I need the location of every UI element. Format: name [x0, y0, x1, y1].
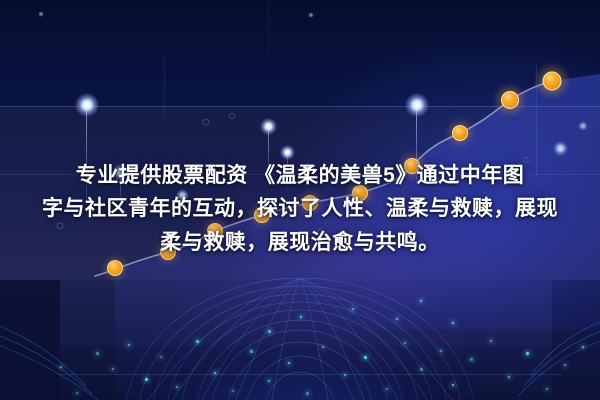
vertical-rule-2 [416, 105, 417, 185]
vertical-rule-5 [268, 0, 269, 52]
divider-rule-1 [0, 106, 600, 107]
vertical-rule-4 [164, 56, 165, 118]
vertical-rule-1 [86, 105, 87, 201]
divider-rule-3 [58, 374, 562, 375]
banner-image: 专业提供股票配资 《温柔的美兽5》通过中年图 字与社区青年的互动，探讨了人性、温… [0, 0, 600, 400]
background-artwork [0, 0, 600, 400]
divider-rule-2 [0, 174, 600, 175]
vertical-rule-3 [536, 64, 537, 178]
